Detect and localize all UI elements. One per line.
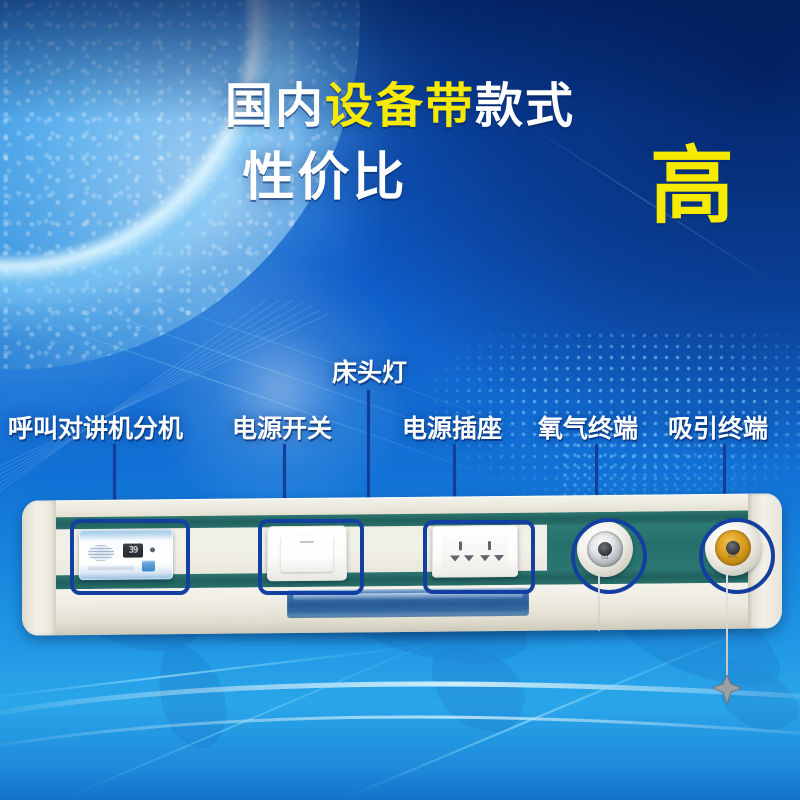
terminal-core-icon bbox=[726, 541, 740, 555]
suction-marking: VAC bbox=[728, 554, 739, 560]
intercom-display: 39 bbox=[123, 543, 143, 557]
panel-end-cap-left bbox=[22, 500, 56, 635]
callout-label-power-switch: 电源开关 bbox=[232, 416, 332, 441]
terminal-port: VAC bbox=[715, 530, 751, 566]
nurse-call-intercom-device[interactable]: 39 bbox=[79, 529, 173, 580]
callout-label-suction-terminal: 吸引终端 bbox=[668, 416, 768, 441]
lamp-gloss bbox=[293, 592, 523, 601]
rocker-mark-icon bbox=[300, 541, 314, 543]
socket-slot-icon bbox=[494, 555, 504, 561]
pull-cord-handle[interactable] bbox=[711, 675, 743, 705]
callout-label-power-socket: 电源插座 bbox=[402, 416, 502, 441]
indicator-led-icon bbox=[150, 547, 155, 552]
suction-pull-cord[interactable] bbox=[726, 575, 728, 680]
intercom-slot bbox=[88, 566, 134, 570]
oxygen-terminal-device[interactable]: O2 bbox=[577, 521, 633, 578]
intercom-call-button[interactable] bbox=[142, 560, 155, 571]
socket-slot-icon bbox=[450, 555, 460, 561]
socket-pin-icon bbox=[488, 541, 491, 550]
socket-face bbox=[442, 533, 508, 570]
power-socket-device[interactable] bbox=[432, 525, 518, 578]
bed-lamp-diffuser[interactable] bbox=[287, 588, 529, 618]
bed-head-unit-panel: 39 bbox=[22, 497, 782, 632]
suction-terminal-device[interactable]: VAC bbox=[705, 520, 761, 577]
callout-label-bed-lamp: 床头灯 bbox=[332, 360, 407, 385]
panel-body: 39 bbox=[22, 493, 782, 635]
rocker-paddle[interactable] bbox=[281, 536, 333, 572]
headline-big-word: 高 bbox=[650, 144, 734, 228]
oxygen-hose-cord bbox=[598, 575, 600, 631]
socket-pin-icon bbox=[459, 541, 462, 550]
oxygen-marking: O2 bbox=[601, 555, 609, 561]
terminal-port: O2 bbox=[587, 531, 623, 567]
terminal-core-icon bbox=[598, 542, 612, 556]
callout-label-oxygen-terminal: 氧气终端 bbox=[538, 416, 638, 441]
speaker-grille-icon bbox=[88, 545, 114, 561]
callout-label-nurse-call-intercom: 呼叫对讲机分机 bbox=[8, 416, 183, 441]
power-switch-device[interactable] bbox=[267, 526, 347, 582]
promo-image: 国内设备带款式 性价比 高 呼叫对讲机分机电源开关床头灯电源插座氧气终端吸引终端… bbox=[0, 0, 800, 800]
socket-slot-icon bbox=[464, 555, 474, 561]
socket-slot-icon bbox=[480, 555, 490, 561]
